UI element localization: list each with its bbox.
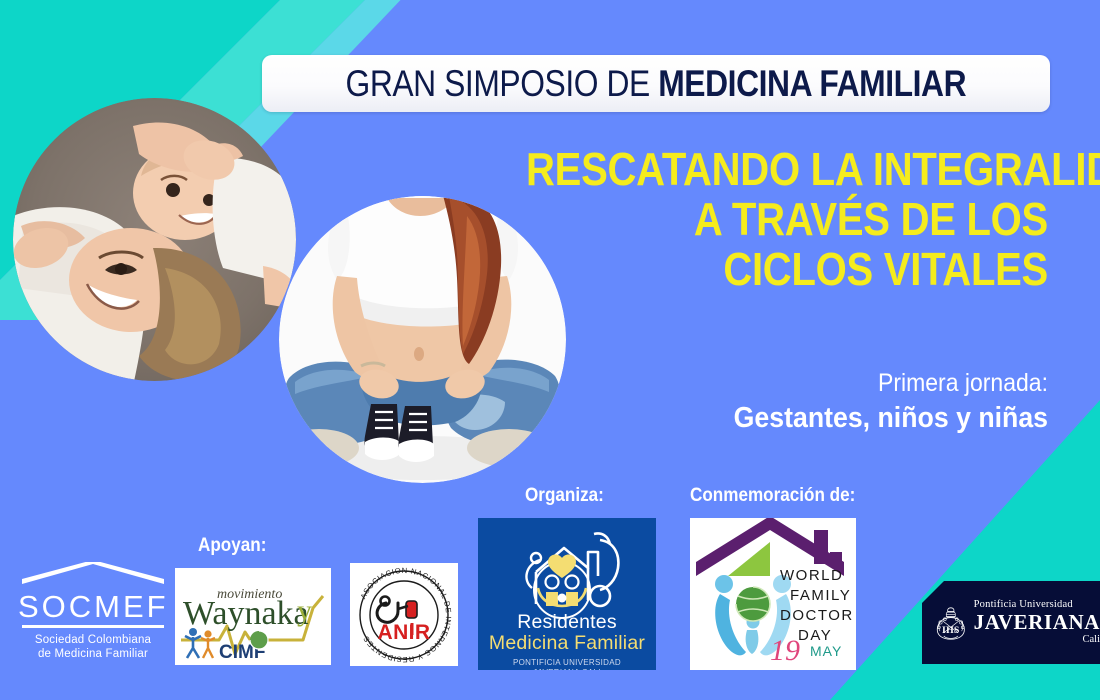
residentes-university: PONTIFICIA UNIVERSIDAD JAVERIANA CALI [478, 658, 656, 670]
mother-and-baby-photo [13, 98, 296, 381]
poster-root: GRAN SIMPOSIO DE MEDICINA FAMILIAR RESCA… [0, 0, 1100, 700]
javeriana-line-3: Cali [974, 634, 1100, 646]
waynakay-word-tail: y [297, 594, 312, 627]
residentes-line-4: JAVERIANA CALI [478, 668, 656, 670]
event-title-light: GRAN SIMPOSIO DE [346, 63, 659, 104]
anir-logo: ASOCIACION NACIONAL DE INTERNOS Y RESIDE… [350, 563, 458, 666]
residentes-line-3: PONTIFICIA UNIVERSIDAD [478, 658, 656, 668]
residentes-line-2: Medicina Familiar [478, 633, 656, 654]
socmef-roof-icon [18, 562, 168, 586]
socmef-subtitle: Sociedad Colombiana de Medicina Familiar [18, 633, 168, 662]
waynakay-word-main: Waynaka [183, 595, 309, 632]
event-title-banner: GRAN SIMPOSIO DE MEDICINA FAMILIAR [262, 55, 1050, 112]
label-organiza: Organiza: [525, 485, 604, 507]
javeriana-line-2: JAVERIANA [974, 611, 1100, 635]
subtitle-line-2: Gestantes, niños y niñas [533, 400, 1048, 436]
socmef-logo: SOCMEF Sociedad Colombiana de Medicina F… [18, 562, 168, 667]
javeriana-line-1: Pontificia Universidad [974, 599, 1100, 611]
socmef-subtitle-line-1: Sociedad Colombiana [18, 633, 168, 647]
headline-line-2: A TRAVÉS DE LOS [526, 194, 1048, 244]
event-title-bold: MEDICINA FAMILIAR [658, 63, 966, 104]
residentes-line-1: Residentes [478, 612, 656, 633]
label-apoyan: Apoyan: [198, 535, 266, 557]
headline: RESCATANDO LA INTEGRALIDAD A TRAVÉS DE L… [448, 144, 1048, 294]
wfdd-line-4: DAY [798, 627, 832, 644]
ihs-monogram: IHS [942, 624, 960, 635]
headline-line-1: RESCATANDO LA INTEGRALIDAD [526, 144, 1048, 194]
waynakay-logo: movimiento Waynaka y CIMF [175, 568, 331, 665]
wfdd-day-number: 19 [770, 634, 800, 667]
world-family-doctor-day-logo: WORLD FAMILY DOCTOR DAY 19 MAY [690, 518, 856, 670]
socmef-divider [22, 625, 164, 628]
residentes-medicina-familiar-logo: Residentes Medicina Familiar PONTIFICIA … [478, 518, 656, 670]
event-title-text: GRAN SIMPOSIO DE MEDICINA FAMILIAR [346, 63, 967, 105]
subtitle: Primera jornada: Gestantes, niños y niña… [488, 368, 1048, 436]
headline-line-3: CICLOS VITALES [526, 244, 1048, 294]
wfdd-line-1: WORLD [780, 567, 843, 584]
subtitle-line-1: Primera jornada: [533, 368, 1048, 398]
socmef-subtitle-line-2: de Medicina Familiar [18, 647, 168, 661]
label-conmemoracion: Conmemoración de: [690, 485, 855, 507]
wfdd-line-2: FAMILY [790, 587, 851, 604]
socmef-name: SOCMEF [18, 591, 168, 622]
javeriana-text: Pontificia Universidad JAVERIANA Cali [974, 599, 1100, 646]
ihs-crest-icon: IHS [934, 591, 968, 655]
wfdd-line-3: DOCTOR [780, 607, 854, 624]
javeriana-logo: IHS Pontificia Universidad JAVERIANA Cal… [922, 581, 1100, 664]
anir-acronym: ANIR [378, 621, 431, 644]
wfdd-month: MAY [810, 643, 842, 659]
